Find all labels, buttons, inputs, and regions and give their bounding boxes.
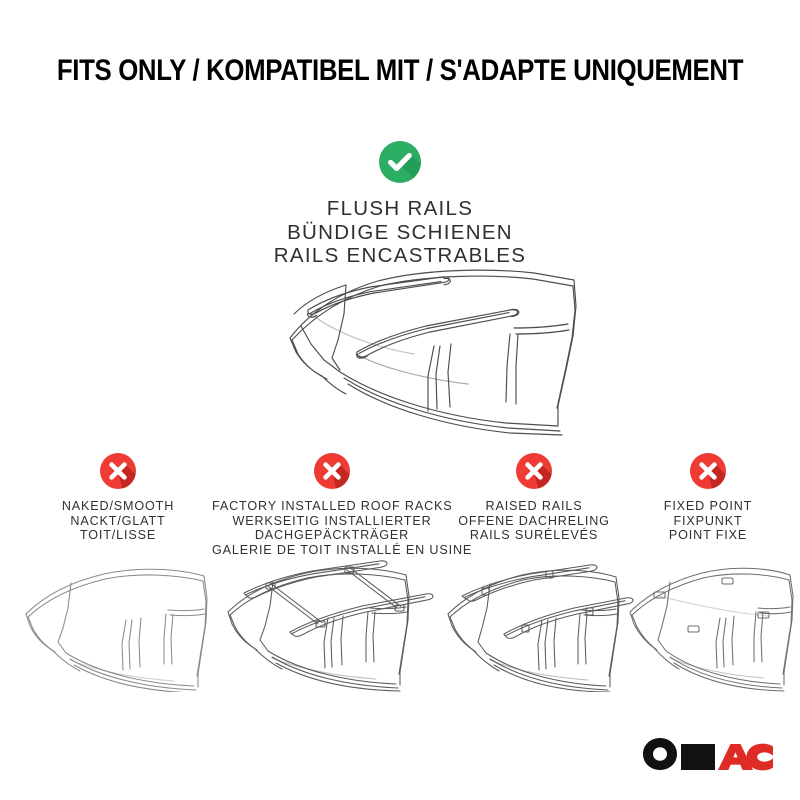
car-roof-with-flush-rails-illustration <box>228 266 578 436</box>
rejected-item-fixed-point: FIXED POINT FIXPUNKT POINT FIXE <box>618 452 798 543</box>
rejected-labels-1: FACTORY INSTALLED ROOF RACKS WERKSEITIG … <box>212 499 452 557</box>
rejected-label-1-de-2: DACHGEPÄCKTRÄGER <box>212 528 452 543</box>
approved-label-de: BÜNDIGE SCHIENEN <box>0 221 800 245</box>
rejected-label-3-fr: POINT FIXE <box>618 528 798 543</box>
car-roof-with-raised-rails-illustration <box>434 556 634 697</box>
rejected-labels-2: RAISED RAILS OFFENE DACHRELING RAILS SUR… <box>434 499 634 543</box>
rejected-label-0-fr: TOIT/LISSE <box>8 528 228 543</box>
x-circle-icon <box>689 452 727 490</box>
rejected-label-3-de: FIXPUNKT <box>618 514 798 529</box>
x-circle-icon-wrap-0 <box>99 452 137 490</box>
rejected-label-1-de-1: WERKSEITIG INSTALLIERTER <box>212 514 452 529</box>
approved-label-fr: RAILS ENCASTRABLES <box>0 244 800 268</box>
x-circle-icon <box>515 452 553 490</box>
x-circle-icon-wrap-3 <box>689 452 727 490</box>
rejected-label-0-de: NACKT/GLATT <box>8 514 228 529</box>
rejected-label-2-fr: RAILS SURÉLEVÉS <box>434 528 634 543</box>
x-circle-icon <box>313 452 351 490</box>
rejected-labels-3: FIXED POINT FIXPUNKT POINT FIXE <box>618 499 798 543</box>
approved-labels: FLUSH RAILS BÜNDIGE SCHIENEN RAILS ENCAS… <box>0 197 800 268</box>
rejected-section: NAKED/SMOOTH NACKT/GLATT TOIT/LISSE <box>0 452 800 692</box>
x-circle-icon <box>99 452 137 490</box>
x-circle-icon-wrap-1 <box>313 452 351 490</box>
check-circle-icon-wrap <box>378 140 422 184</box>
fitment-info-graphic: FITS ONLY / KOMPATIBEL MIT / S'ADAPTE UN… <box>0 0 800 800</box>
approved-label-en: FLUSH RAILS <box>0 197 800 221</box>
page-title: FITS ONLY / KOMPATIBEL MIT / S'ADAPTE UN… <box>57 52 743 90</box>
rejected-label-0-en: NAKED/SMOOTH <box>8 499 228 514</box>
rejected-label-2-de: OFFENE DACHRELING <box>434 514 634 529</box>
x-circle-icon-wrap-2 <box>515 452 553 490</box>
car-roof-with-fixed-points-illustration <box>618 556 798 697</box>
rejected-item-raised-rails: RAISED RAILS OFFENE DACHRELING RAILS SUR… <box>434 452 634 543</box>
rejected-label-3-en: FIXED POINT <box>618 499 798 514</box>
header: FITS ONLY / KOMPATIBEL MIT / S'ADAPTE UN… <box>0 52 800 90</box>
car-roof-naked-smooth-illustration <box>8 556 228 697</box>
rejected-item-naked-smooth: NAKED/SMOOTH NACKT/GLATT TOIT/LISSE <box>8 452 228 543</box>
rejected-label-1-en: FACTORY INSTALLED ROOF RACKS <box>212 499 452 514</box>
omac-logo-mark <box>642 736 774 772</box>
check-circle-icon <box>378 140 422 184</box>
rejected-labels-0: NAKED/SMOOTH NACKT/GLATT TOIT/LISSE <box>8 499 228 543</box>
rejected-label-2-en: RAISED RAILS <box>434 499 634 514</box>
rejected-item-factory-roof-rack: FACTORY INSTALLED ROOF RACKS WERKSEITIG … <box>212 452 452 557</box>
omac-logo: OMAC <box>642 738 774 772</box>
approved-section: FLUSH RAILS BÜNDIGE SCHIENEN RAILS ENCAS… <box>0 140 800 268</box>
car-roof-with-factory-roof-rack-illustration <box>212 556 452 697</box>
